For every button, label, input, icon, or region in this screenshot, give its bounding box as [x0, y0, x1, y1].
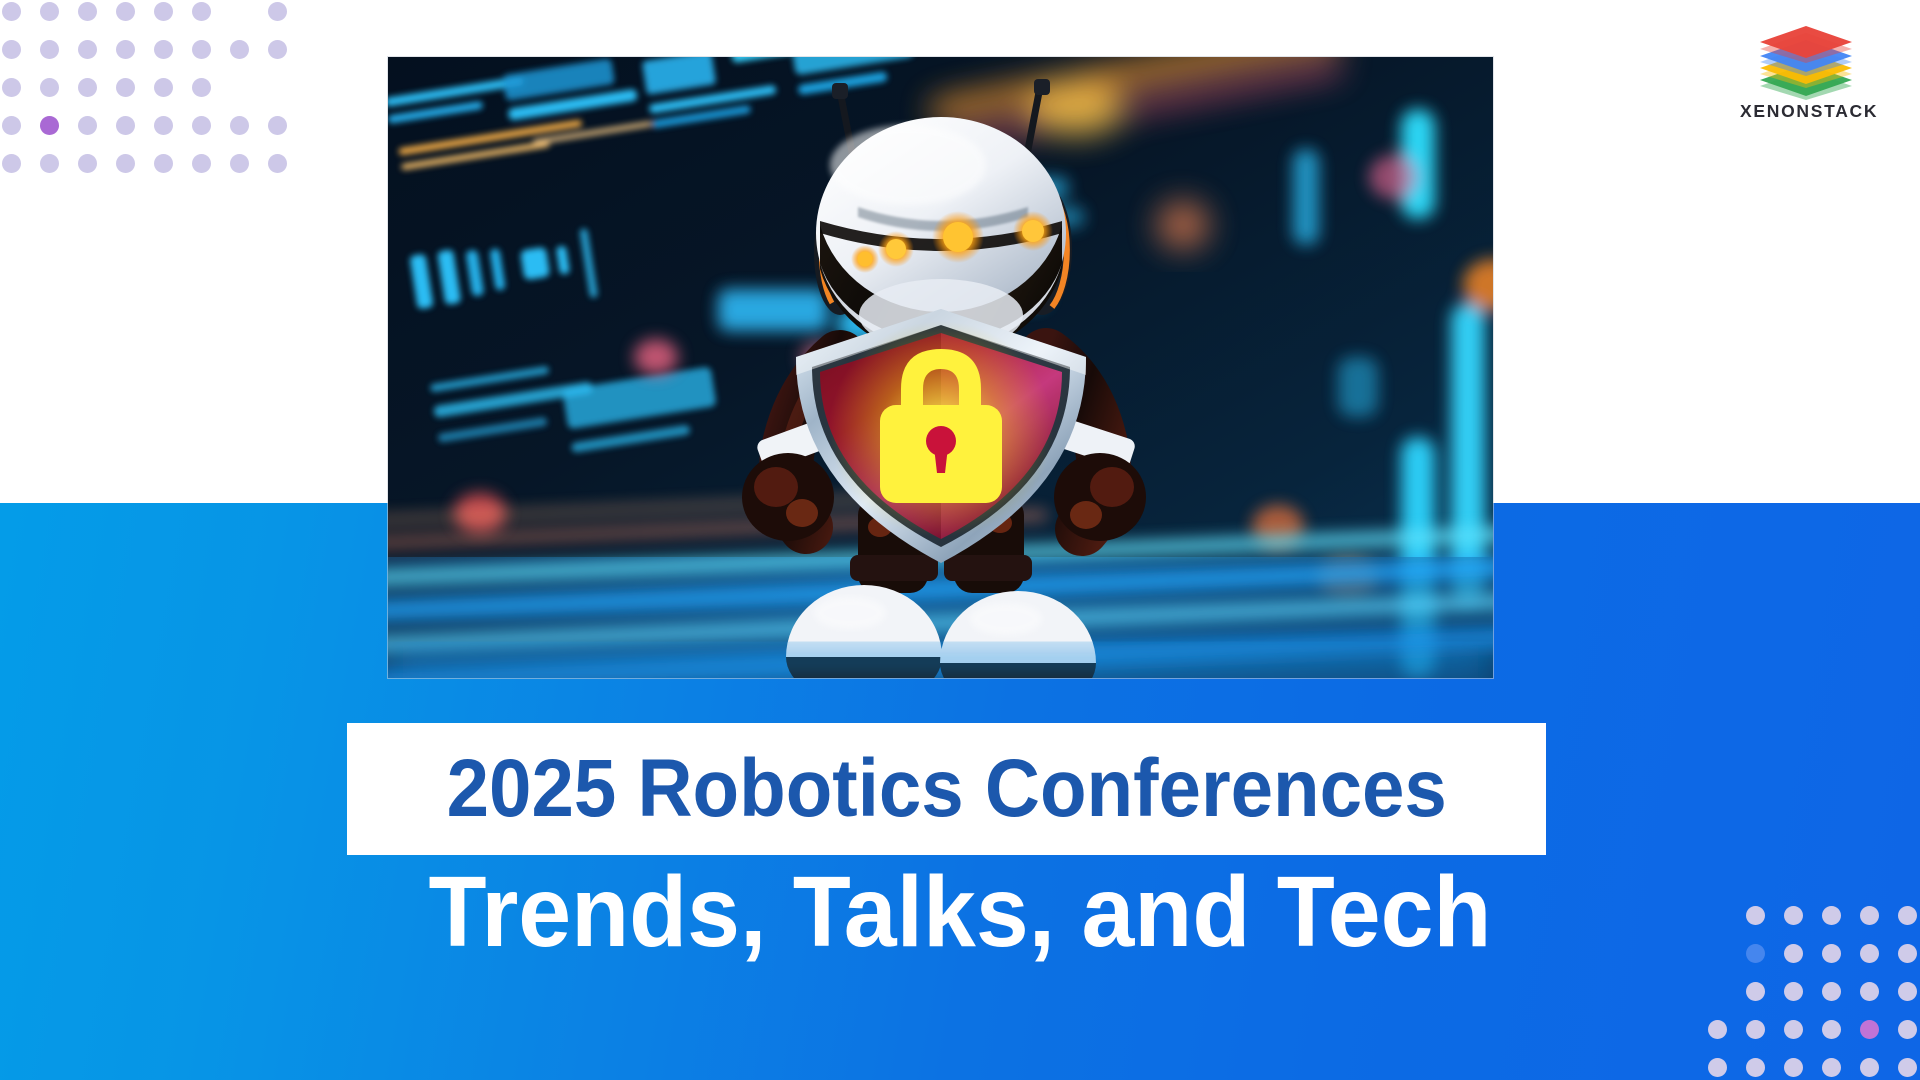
decor-dot: [1746, 944, 1765, 963]
decor-dot: [78, 116, 97, 135]
decor-dot: [230, 154, 249, 173]
decor-dot: [116, 154, 135, 173]
decor-dot: [1746, 1020, 1765, 1039]
decor-dot: [230, 78, 249, 97]
decor-dot: [40, 154, 59, 173]
decor-dot: [1822, 944, 1841, 963]
decor-dot: [154, 154, 173, 173]
decor-dot: [1784, 906, 1803, 925]
decor-dot: [230, 116, 249, 135]
decor-dot: [154, 40, 173, 59]
decor-dot: [1822, 1058, 1841, 1077]
decor-dot: [154, 116, 173, 135]
dot-grid-top-left: [0, 0, 296, 182]
decor-dot: [1860, 982, 1879, 1001]
hero-image: [388, 57, 1493, 678]
decor-dot: [1898, 982, 1917, 1001]
decor-dot: [268, 154, 287, 173]
decor-dot: [40, 2, 59, 21]
decor-dot: [1898, 906, 1917, 925]
decor-dot: [78, 154, 97, 173]
decor-dot: [1746, 906, 1765, 925]
decor-dot: [1746, 1058, 1765, 1077]
decor-dot: [116, 40, 135, 59]
decor-dot: [2, 154, 21, 173]
decor-dot: [2, 40, 21, 59]
decor-dot: [1898, 1020, 1917, 1039]
decor-dot: [1898, 1058, 1917, 1077]
decor-dot: [1860, 1020, 1879, 1039]
decor-dot: [1822, 982, 1841, 1001]
decor-dot: [1860, 906, 1879, 925]
decor-dot: [192, 2, 211, 21]
decor-dot: [40, 40, 59, 59]
decor-dot: [116, 116, 135, 135]
decor-dot: [1708, 982, 1727, 1001]
decor-dot: [78, 78, 97, 97]
decor-dot: [78, 40, 97, 59]
decor-dot: [40, 116, 59, 135]
decor-dot: [116, 78, 135, 97]
decor-dot: [268, 78, 287, 97]
decor-dot: [154, 78, 173, 97]
brand-logo[interactable]: XENONSTACK: [1740, 22, 1872, 121]
decor-dot: [230, 40, 249, 59]
decor-dot: [268, 116, 287, 135]
decor-dot: [1784, 1020, 1803, 1039]
decor-dot: [1898, 944, 1917, 963]
decor-dot: [78, 2, 97, 21]
decor-dot: [40, 78, 59, 97]
brand-wordmark: XENONSTACK: [1740, 103, 1872, 121]
decor-dot: [1708, 906, 1727, 925]
decor-dot: [268, 40, 287, 59]
decor-dot: [116, 2, 135, 21]
decor-dot: [1708, 944, 1727, 963]
headline-box: 2025 Robotics Conferences: [347, 723, 1546, 855]
decor-dot: [2, 78, 21, 97]
page-subtitle: Trends, Talks, and Tech: [48, 862, 1872, 962]
decor-dot: [1860, 1058, 1879, 1077]
decor-dot: [1822, 1020, 1841, 1039]
decor-dot: [192, 154, 211, 173]
decor-dot: [154, 2, 173, 21]
decor-dot: [1860, 944, 1879, 963]
decor-dot: [1784, 944, 1803, 963]
decor-dot: [192, 78, 211, 97]
decor-dot: [2, 2, 21, 21]
decor-dot: [230, 2, 249, 21]
decor-dot: [1708, 1020, 1727, 1039]
page-title: 2025 Robotics Conferences: [446, 748, 1446, 830]
poster-canvas: XENONSTACK: [0, 0, 1920, 1080]
decor-dot: [1784, 1058, 1803, 1077]
decor-dot: [1822, 906, 1841, 925]
stacked-layers-icon: [1740, 22, 1872, 100]
robot-shield-illustration: [388, 57, 1493, 678]
decor-dot: [1746, 982, 1765, 1001]
decor-dot: [192, 116, 211, 135]
decor-dot: [1708, 1058, 1727, 1077]
decor-dot: [268, 2, 287, 21]
decor-dot: [192, 40, 211, 59]
decor-dot: [1784, 982, 1803, 1001]
dot-grid-bottom-right: [1698, 896, 1920, 1080]
decor-dot: [2, 116, 21, 135]
